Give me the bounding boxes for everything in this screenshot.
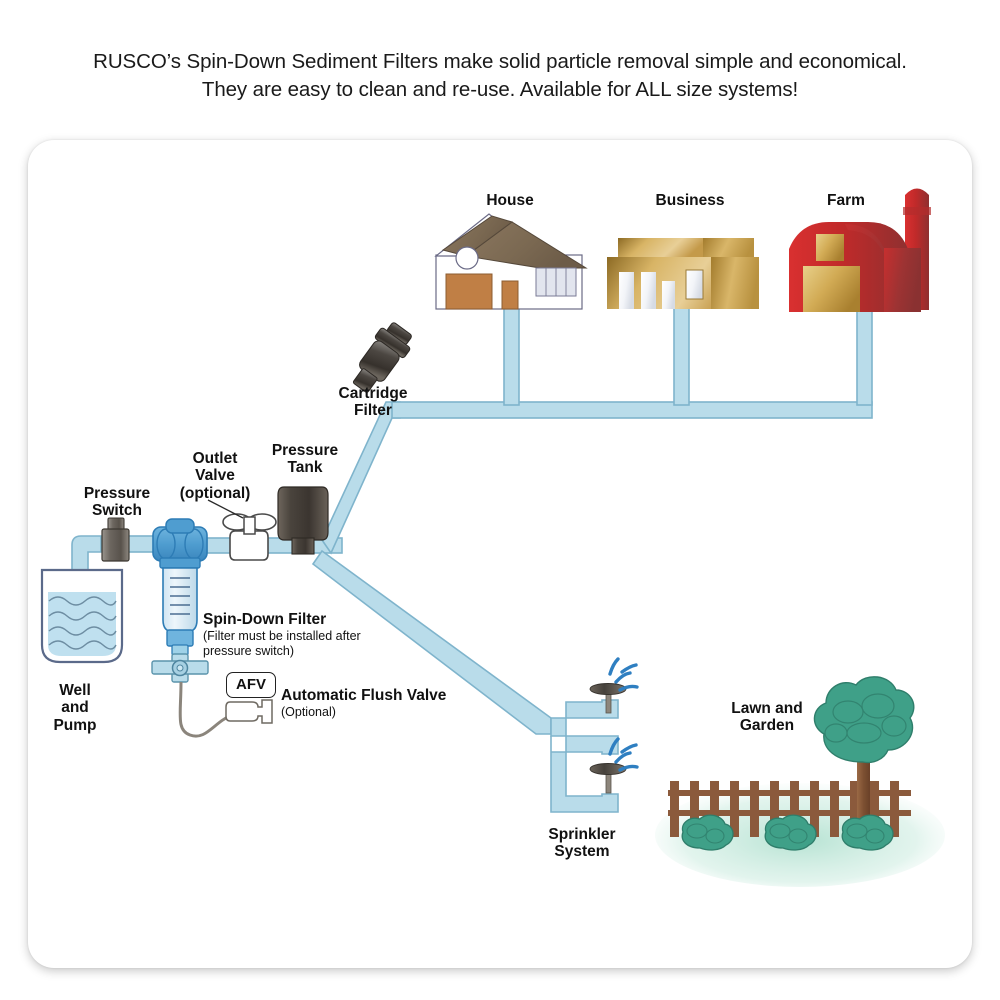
label-business: Business — [620, 192, 760, 209]
well-water-tank-icon — [42, 570, 122, 662]
diagram-stage: House Business Farm Cartridge Filter Out… — [0, 0, 1000, 1000]
label-house: House — [455, 192, 565, 209]
label-lawn-and-garden: Lawn and Garden — [712, 700, 822, 735]
pipe-riser-business — [674, 305, 689, 405]
label-pressure-tank: Pressure Tank — [255, 442, 355, 477]
pipe-diagonal-upper — [322, 402, 400, 553]
label-automatic-flush-valve: Automatic Flush Valve (Optional) — [281, 670, 511, 737]
label-spin-down-filter: Spin-Down Filter (Filter must be install… — [203, 594, 433, 676]
flush-cross-valve-icon — [152, 654, 208, 682]
afv-title: Automatic Flush Valve — [281, 687, 446, 704]
afv-badge: AFV — [226, 672, 276, 698]
label-cartridge-filter: Cartridge Filter — [323, 385, 423, 420]
pipe-riser-house — [504, 305, 519, 405]
spin-down-filter-title: Spin-Down Filter — [203, 611, 326, 628]
pipe-well-to-switch — [72, 536, 101, 572]
label-well-and-pump: Well and Pump — [30, 682, 120, 734]
label-sprinkler-system: Sprinkler System — [527, 826, 637, 861]
label-farm: Farm — [796, 192, 896, 209]
house-icon — [436, 214, 586, 309]
pressure-switch-icon — [102, 518, 129, 561]
afv-optional: (Optional) — [281, 705, 511, 720]
pipe-trunk-horizontal — [392, 402, 872, 418]
spin-down-filter-note: (Filter must be installed after pressure… — [203, 629, 433, 659]
label-outlet-valve: Outlet Valve (optional) — [160, 450, 270, 502]
spin-down-filter-icon — [152, 519, 208, 682]
label-pressure-switch: Pressure Switch — [62, 485, 172, 520]
pipe-riser-farm — [857, 305, 872, 405]
business-building-icon — [607, 238, 759, 309]
diagram-page: RUSCO’s Spin-Down Sediment Filters make … — [0, 0, 1000, 1000]
